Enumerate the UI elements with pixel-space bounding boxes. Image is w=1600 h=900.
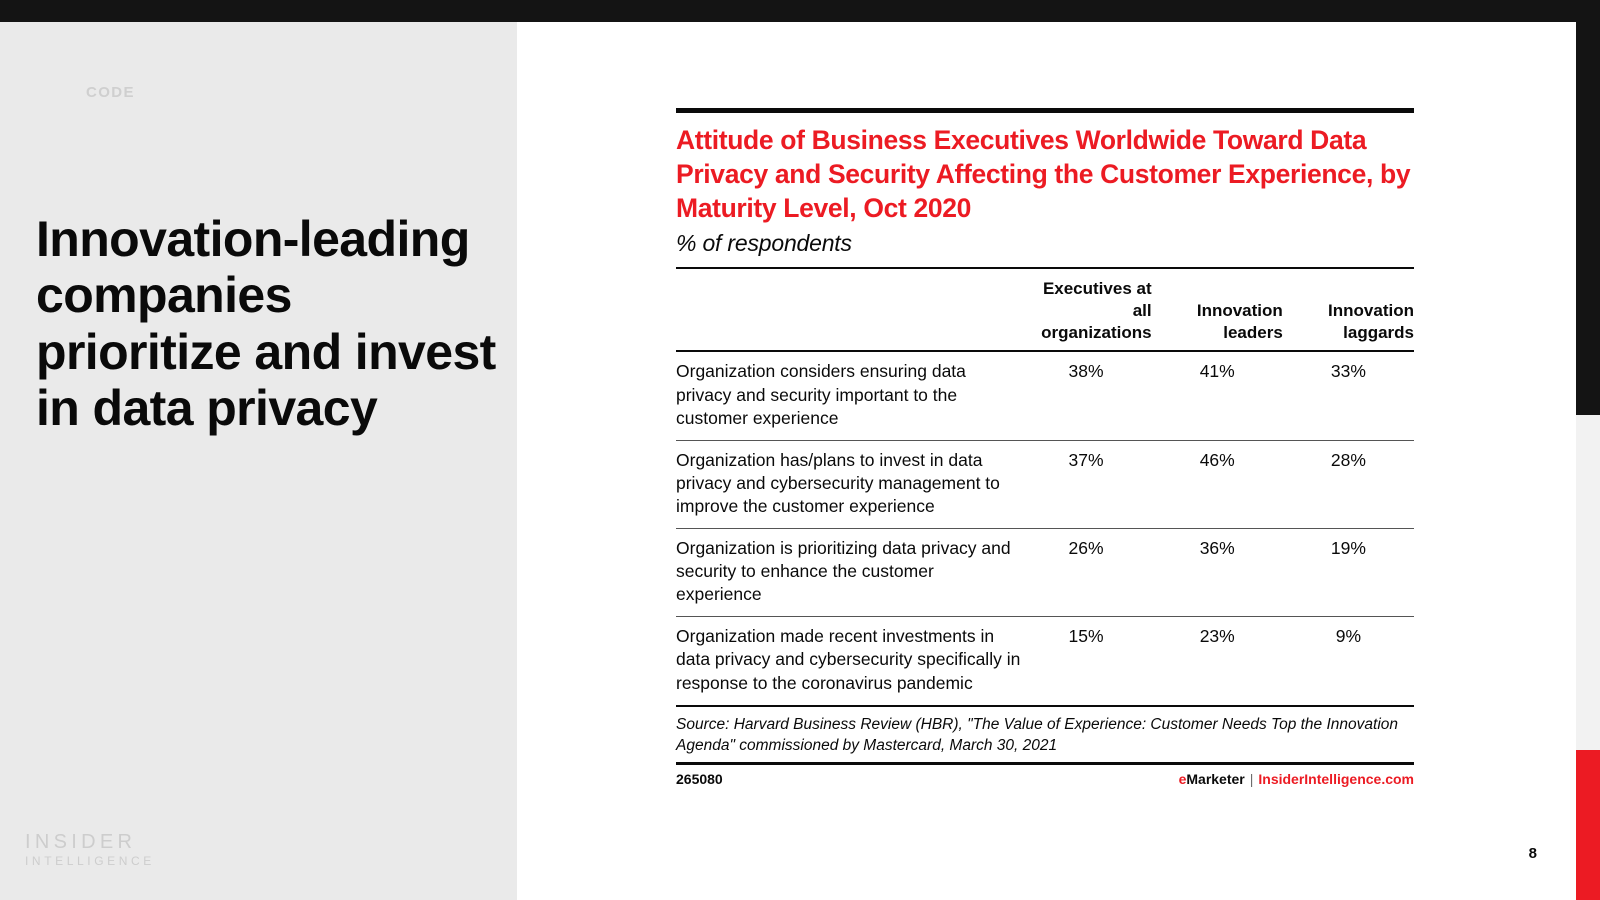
edge-accent-black — [1576, 0, 1600, 415]
footer-site-link[interactable]: InsiderIntelligence.com — [1258, 771, 1414, 787]
table-header: Executives at all organizations Innovati… — [676, 269, 1414, 351]
row-label: Organization has/plans to invest in data… — [676, 440, 1020, 528]
row-value-laggards: 19% — [1283, 529, 1414, 617]
row-value-leaders: 41% — [1152, 351, 1283, 440]
column-header-all-organizations: Executives at all organizations — [1020, 269, 1151, 351]
row-value-laggards: 28% — [1283, 440, 1414, 528]
chart-subtitle: % of respondents — [676, 230, 1414, 257]
slide-canvas: CODE Innovation-leading companies priori… — [0, 0, 1600, 900]
row-label: Organization made recent investments in … — [676, 617, 1020, 705]
table-body: Organization considers ensuring data pri… — [676, 351, 1414, 704]
row-value-leaders: 46% — [1152, 440, 1283, 528]
row-label: Organization is prioritizing data privac… — [676, 529, 1020, 617]
section-kicker: CODE — [86, 84, 135, 101]
footer-brand: eMarketer|InsiderIntelligence.com — [1179, 771, 1414, 787]
row-label: Organization considers ensuring data pri… — [676, 351, 1020, 440]
chart-card: Attitude of Business Executives Worldwid… — [676, 108, 1414, 787]
row-value-laggards: 9% — [1283, 617, 1414, 705]
column-header-innovation-laggards: Innovation laggards — [1283, 269, 1414, 351]
table-header-row: Executives at all organizations Innovati… — [676, 269, 1414, 351]
page-title: Innovation-leading companies prioritize … — [36, 211, 506, 437]
table-row: Organization is prioritizing data privac… — [676, 529, 1414, 617]
insider-intelligence-logo: INSIDER INTELLIGENCE — [25, 831, 155, 870]
emarketer-logo-text: Marketer — [1186, 771, 1244, 787]
table-row: Organization has/plans to invest in data… — [676, 440, 1414, 528]
footer-separator: | — [1245, 771, 1259, 787]
left-panel: CODE Innovation-leading companies priori… — [0, 22, 517, 900]
row-value-leaders: 23% — [1152, 617, 1283, 705]
chart-id: 265080 — [676, 771, 723, 787]
row-value-all: 15% — [1020, 617, 1151, 705]
row-value-all: 26% — [1020, 529, 1151, 617]
top-banner-bar — [0, 0, 1600, 22]
row-value-all: 38% — [1020, 351, 1151, 440]
logo-line-intelligence: INTELLIGENCE — [25, 853, 155, 870]
logo-line-insider: INSIDER — [25, 831, 155, 853]
edge-accent-red — [1576, 750, 1600, 900]
column-header-innovation-leaders: Innovation leaders — [1152, 269, 1283, 351]
card-footer: 265080 eMarketer|InsiderIntelligence.com — [676, 765, 1414, 787]
chart-title: Attitude of Business Executives Worldwid… — [676, 124, 1414, 226]
row-value-leaders: 36% — [1152, 529, 1283, 617]
card-top-rule — [676, 108, 1414, 113]
page-number: 8 — [1529, 845, 1537, 862]
source-note: Source: Harvard Business Review (HBR), "… — [676, 705, 1414, 763]
edge-accent-gray — [1576, 415, 1600, 750]
table-row: Organization made recent investments in … — [676, 617, 1414, 705]
row-value-all: 37% — [1020, 440, 1151, 528]
data-table: Executives at all organizations Innovati… — [676, 269, 1414, 704]
column-header-blank — [676, 269, 1020, 351]
row-value-laggards: 33% — [1283, 351, 1414, 440]
table-row: Organization considers ensuring data pri… — [676, 351, 1414, 440]
